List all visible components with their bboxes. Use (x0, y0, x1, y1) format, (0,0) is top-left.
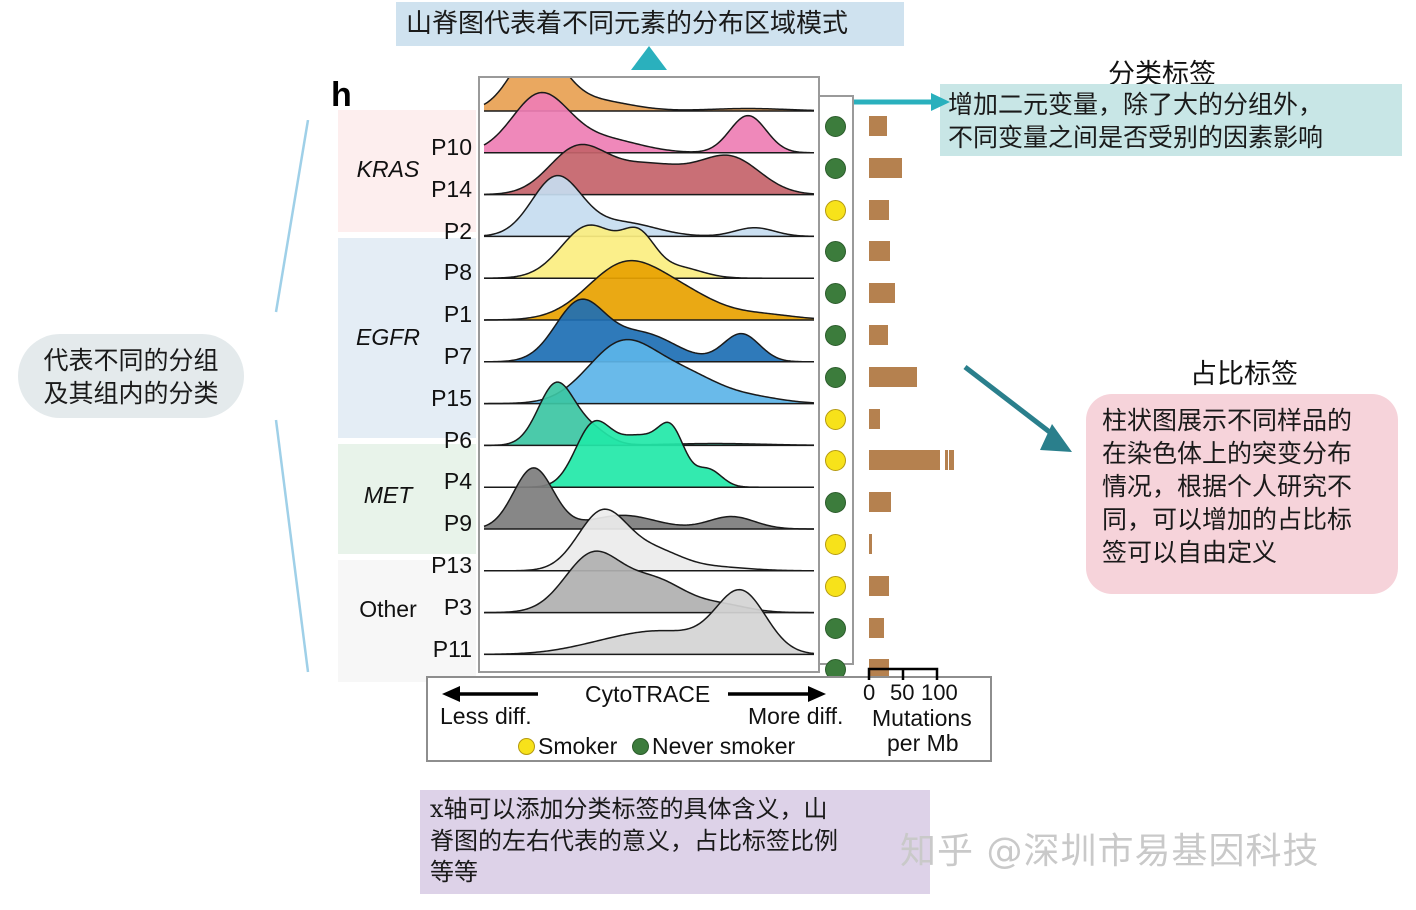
smoker-dot-p6 (825, 409, 846, 430)
left-annotation-box: 代表不同的分组 及其组内的分类 (18, 334, 244, 418)
mutation-bar-p8 (869, 241, 890, 261)
smoker-dot-p15 (825, 367, 846, 388)
classify-annotation-box: 增加二元变量，除了大的分组外， 不同变量之间是否受别的因素影响 (940, 84, 1402, 156)
mutation-bar-p4 (869, 450, 940, 470)
watermark: 知乎 @深圳市易基因科技 (900, 822, 1319, 874)
patient-label-p6: P6 (414, 427, 472, 454)
mutation-bar-p11 (869, 618, 884, 638)
x-axis-left-label: Less diff. (440, 703, 532, 730)
mutation-bar-p3 (869, 576, 889, 596)
mutation-axis-title-line1: Mutations (872, 705, 972, 732)
mutation-tick-50: 50 (890, 680, 914, 706)
legend-label-smoker: Smoker (538, 733, 617, 760)
teal-triangle-pointer-icon (631, 46, 667, 70)
patient-label-p9: P9 (414, 510, 472, 537)
smoker-dot-p7 (825, 325, 846, 346)
patient-label-p7: P7 (414, 343, 472, 370)
legend-label-never-smoker: Never smoker (652, 733, 795, 760)
x-axis-right-label: More diff. (748, 703, 843, 730)
legend-dot-never-smoker-icon (632, 738, 649, 755)
patient-label-p15: P15 (414, 385, 472, 412)
patient-label-p1: P1 (414, 301, 472, 328)
mutation-bar-p2 (869, 200, 889, 220)
mutation-burden-bars (866, 90, 996, 670)
smoker-dot-p14 (825, 158, 846, 179)
ridge-fill-p7 (484, 261, 814, 320)
smoker-dot-p10 (825, 116, 846, 137)
smoker-dot-p13 (825, 534, 846, 555)
ridge-fill-p14 (484, 93, 814, 153)
ratio-annotation-box: 柱状图展示不同样品的 在染色体上的突变分布 情况，根据个人研究不 同，可以增加的… (1086, 394, 1398, 594)
ridgeline-svg (480, 78, 818, 671)
mutation-bar-p10 (869, 116, 887, 136)
smoker-dot-p3 (825, 576, 846, 597)
mutation-bar-p7 (869, 325, 888, 345)
legend-dot-smoker-icon (518, 738, 535, 755)
mutation-bar-p15 (869, 367, 917, 387)
mutation-bar-p1 (869, 283, 895, 303)
patient-label-p13: P13 (414, 552, 472, 579)
mutation-bar-p13 (869, 534, 872, 554)
mutation-bar-p14 (869, 158, 902, 178)
ratio-annotation-title: 占比标签 (1190, 352, 1298, 391)
x-axis-label: CytoTRACE (585, 681, 710, 708)
smoker-dot-p11 (825, 618, 846, 639)
smoker-dot-p2 (825, 200, 846, 221)
group-band-met: MET (338, 444, 476, 554)
mutation-axis-title-line2: per Mb (887, 730, 959, 757)
patient-label-p2: P2 (414, 218, 472, 245)
group-band-kras: KRAS (338, 110, 476, 232)
patient-label-p11: P11 (414, 636, 472, 663)
mutation-tick-100: 100 (921, 680, 958, 706)
patient-label-p4: P4 (414, 468, 472, 495)
patient-label-p8: P8 (414, 259, 472, 286)
ridgeline-plot-panel (478, 76, 820, 673)
top-annotation-box: 山脊图代表着不同元素的分布区域模式 (396, 2, 904, 46)
patient-label-p10: P10 (414, 134, 472, 161)
bottom-annotation-box: x轴可以添加分类标签的具体含义，山 脊图的左右代表的意义，占比标签比例 等等 (420, 790, 930, 894)
patient-label-p3: P3 (414, 594, 472, 621)
left-connector-lines (250, 120, 350, 680)
mutation-tick-0: 0 (863, 680, 875, 706)
mutation-bar-p9 (869, 492, 891, 512)
patient-label-p14: P14 (414, 176, 472, 203)
mutation-bar-spike-p4-2 (951, 450, 954, 470)
mutation-bar-p6 (869, 409, 880, 429)
